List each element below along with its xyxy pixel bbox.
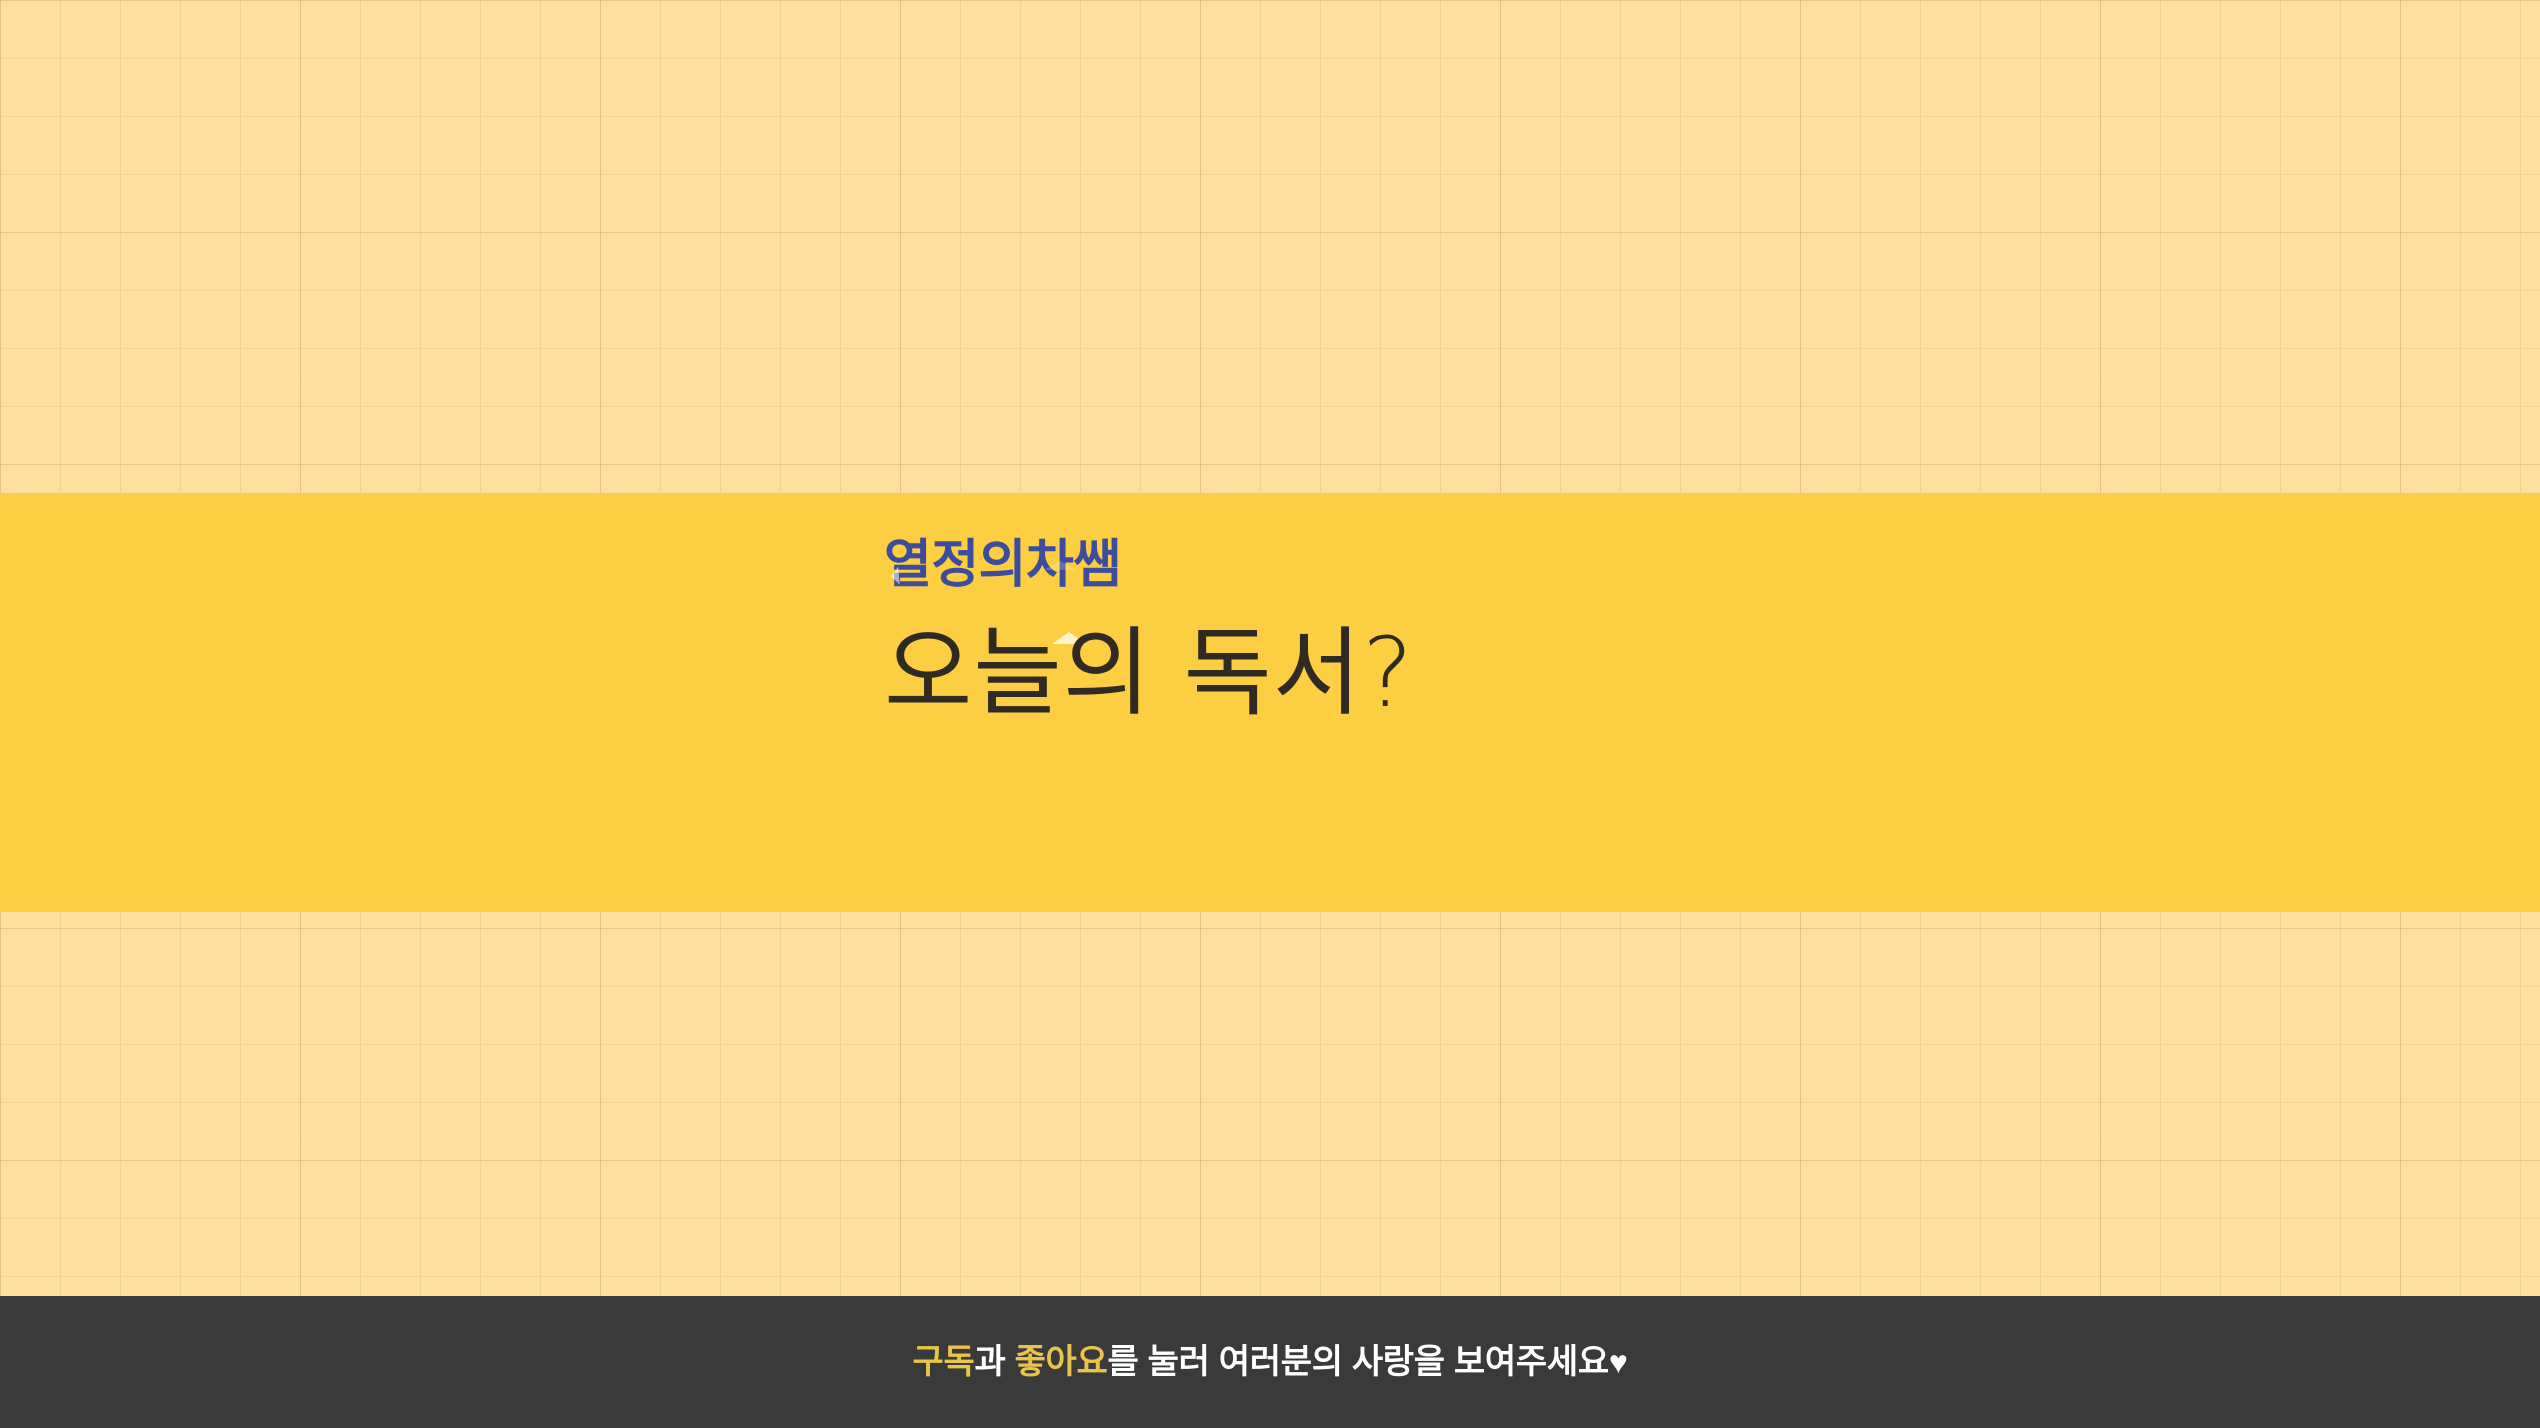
page-title: 오늘의 독서?: [884, 625, 1414, 721]
heart-icon: ♥: [1609, 1344, 1628, 1380]
cta-tail-label: 를 눌러 여러분의 사랑을 보여주세요: [1108, 1343, 1609, 1381]
slide-canvas: 열정의차쌤 오늘의 독서? 구독과 좋아요를 눌러 여러분의 사랑을 보여주세요…: [0, 0, 2540, 1428]
call-to-action-bar: 구독과 좋아요를 눌러 여러분의 사랑을 보여주세요♥: [0, 1296, 2540, 1428]
brand-name: 열정의차쌤: [884, 539, 1121, 591]
band-content: 열정의차쌤 오늘의 독서?: [884, 493, 2284, 912]
cta-conjunction-label: 과: [974, 1343, 1014, 1381]
call-to-action-text: 구독과 좋아요를 눌러 여러분의 사랑을 보여주세요♥: [912, 1345, 1627, 1379]
cta-subscribe-label: 구독: [912, 1343, 974, 1381]
cta-like-label: 좋아요: [1015, 1343, 1108, 1381]
brand-line: 열정의차쌤: [884, 539, 1121, 591]
highlight-band: 열정의차쌤 오늘의 독서?: [0, 493, 2540, 912]
